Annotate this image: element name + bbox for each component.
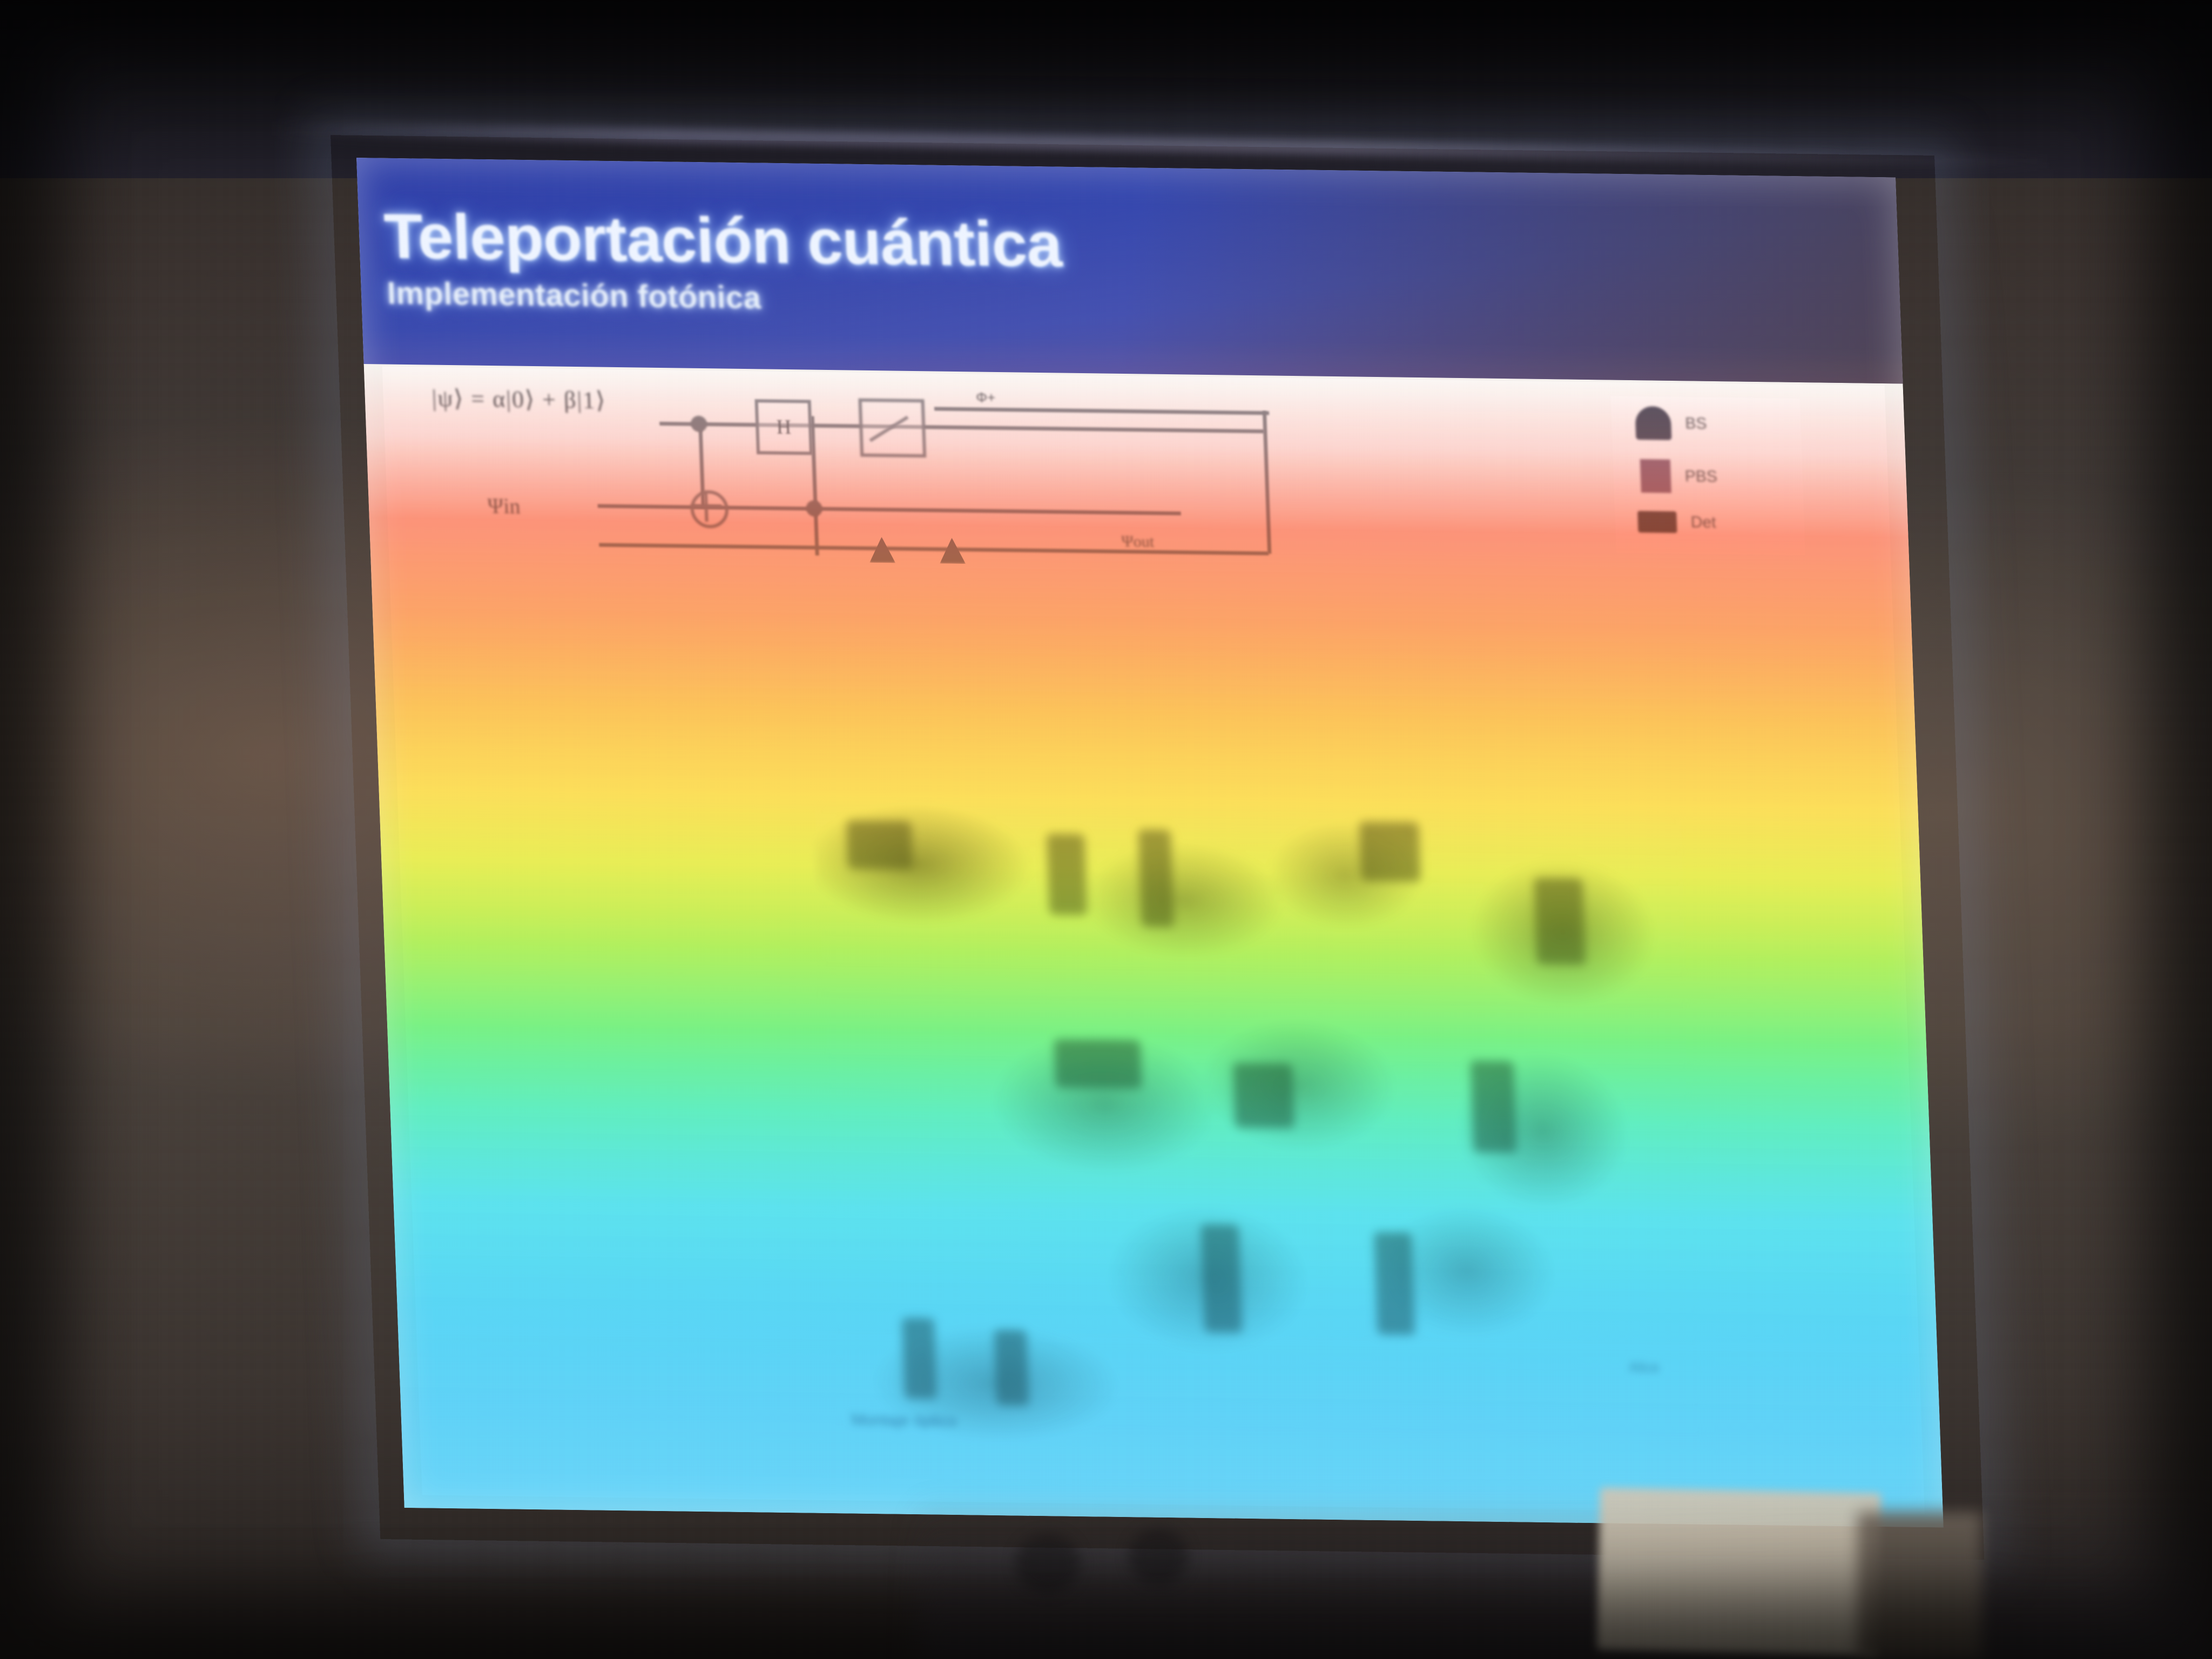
circuit-wire-feedback (934, 407, 1269, 415)
legend-label-pbs: PBS (1684, 467, 1717, 486)
circuit-wire-middle (598, 504, 1181, 515)
detector-icon (1637, 511, 1677, 533)
desk-device-side (1858, 1512, 1982, 1659)
quantum-circuit-diagram: |ψ⟩ = α|0⟩ + β|1⟩ Ψin Φ+ Ψout H (431, 379, 1518, 577)
circuit-input-label: Ψin (487, 493, 521, 519)
photo-optical-element-8 (1470, 1061, 1516, 1153)
knob-right (1129, 1528, 1188, 1585)
knob-left (1015, 1534, 1080, 1593)
photo-optical-element-12 (994, 1330, 1029, 1406)
legend-item-pbs: PBS (1640, 459, 1718, 494)
slide-surface: Teleportación cuántica Implementación fo… (356, 158, 1944, 1527)
foreground-shadow (918, 1496, 2212, 1659)
hadamard-gate: H (755, 399, 813, 455)
hadamard-gate-label: H (776, 415, 792, 439)
circuit-wire-bottom (599, 543, 1269, 555)
projection-screen: Teleportación cuántica Implementación fo… (356, 158, 1944, 1527)
photo-optical-element-9 (1201, 1224, 1242, 1333)
photo-optical-element-3 (1138, 829, 1174, 927)
desk-device (1597, 1488, 1881, 1656)
photo-optical-element-5 (1534, 878, 1586, 965)
photo-optical-element-2 (1047, 834, 1087, 915)
legend-item-det: Det (1637, 511, 1716, 534)
photo-optical-element-11 (902, 1318, 937, 1399)
circuit-output-label: Ψout (1121, 532, 1155, 551)
circuit-wire-top (659, 422, 1264, 433)
measurement-box (858, 399, 926, 458)
control-node-b (806, 500, 822, 516)
photo-optical-element-4 (1359, 821, 1421, 881)
slide-content-pane: |ψ⟩ = α|0⟩ + β|1⟩ Ψin Φ+ Ψout H (382, 366, 1925, 1514)
slide-subtitle: Implementación fotónica (387, 278, 761, 314)
beam-splitter-icon (1635, 406, 1671, 440)
photo-optical-element-7 (1233, 1063, 1294, 1128)
circuit-wire-vertical-b (1263, 411, 1271, 554)
slide-title: Teleportación cuántica (383, 205, 1063, 277)
control-node-a (691, 416, 707, 432)
photo-optical-element-1 (846, 820, 913, 870)
photo-caption: Montaje óptico (851, 1411, 957, 1431)
laboratory-photo: Montaje óptico Alice (813, 798, 1705, 1452)
polarizing-beam-splitter-icon (1640, 459, 1671, 493)
legend-label-det: Det (1690, 513, 1716, 532)
optics-legend: BS PBS Det (1611, 396, 1805, 555)
legend-label-bs: BS (1685, 414, 1707, 433)
legend-item-bs: BS (1635, 406, 1707, 441)
x-gate (690, 490, 729, 529)
state-equation: |ψ⟩ = α|0⟩ + β|1⟩ (431, 385, 606, 414)
photograph-of-projected-slide: Teleportación cuántica Implementación fo… (0, 0, 2212, 1659)
photo-optical-element-6 (1054, 1039, 1142, 1089)
bell-pair-label: Φ+ (976, 389, 996, 406)
photo-caption-right: Alice (1629, 1359, 1660, 1376)
photo-optical-element-10 (1374, 1232, 1415, 1335)
